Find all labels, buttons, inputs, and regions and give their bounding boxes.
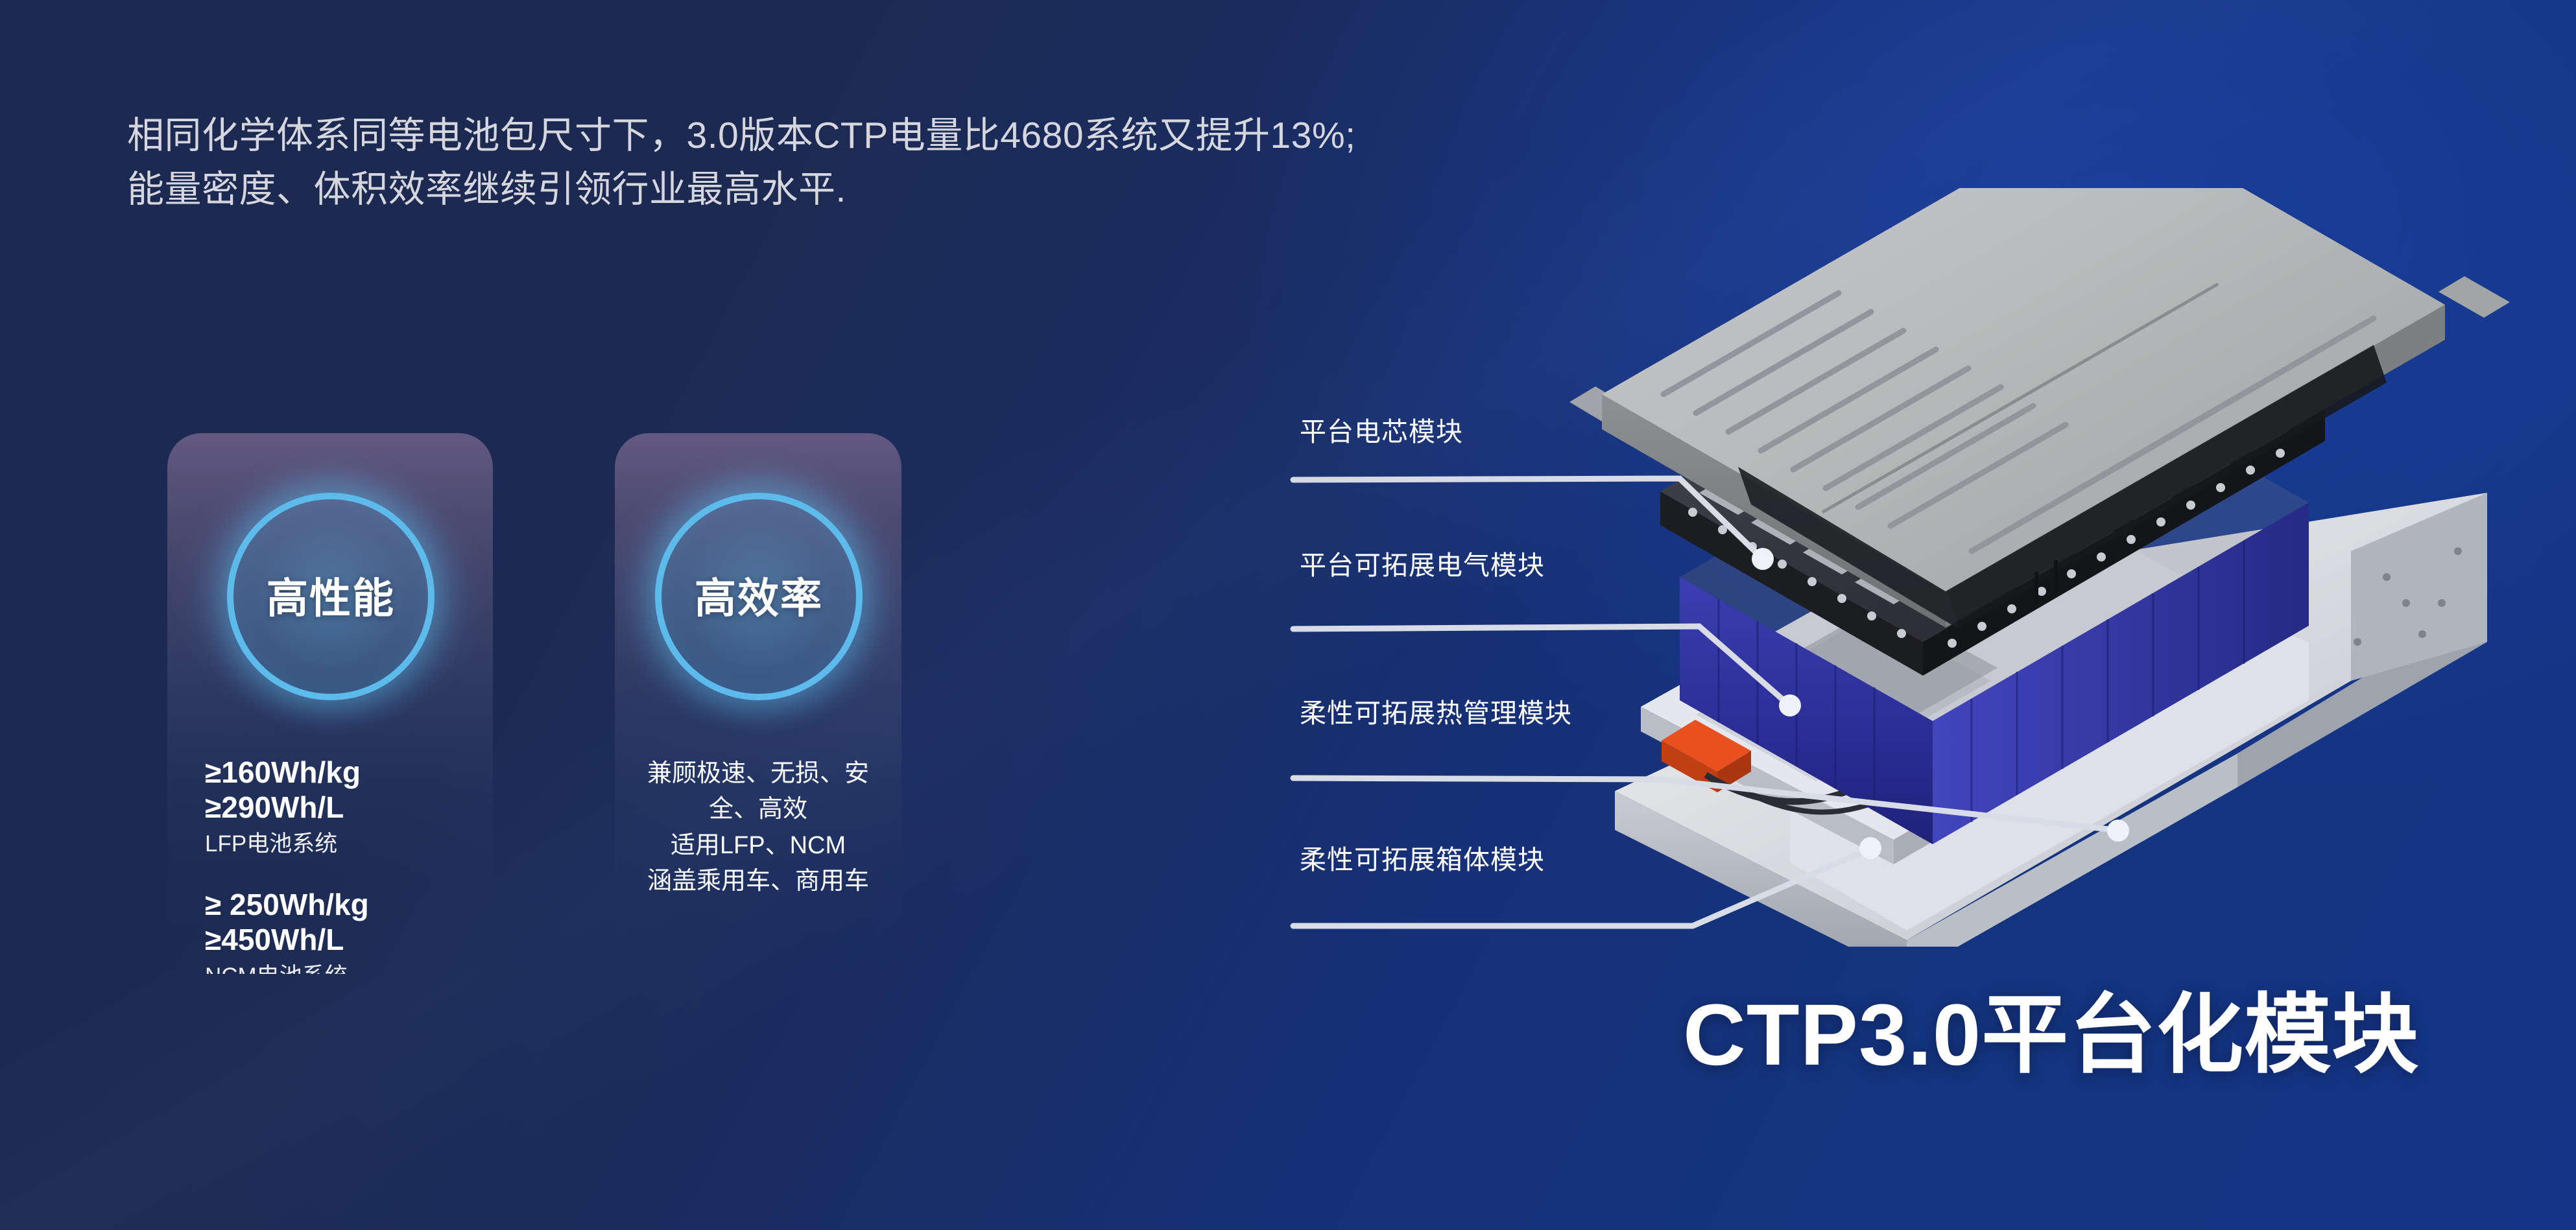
headline-text: 相同化学体系同等电池包尺寸下，3.0版本CTP电量比4680系统又提升13%; … xyxy=(127,109,1787,217)
efficiency-body-text: 兼顾极速、无损、安 全、高效 适用LFP、NCM 涵盖乘用车、商用车 xyxy=(615,756,901,900)
ring-badge-efficiency: 高效率 xyxy=(655,493,863,700)
battery-pack-exploded-view xyxy=(1544,188,2555,947)
ring-badge-performance: 高性能 xyxy=(227,493,435,700)
callout-label-electrical-module: 平台可拓展电气模块 xyxy=(1300,543,1545,582)
feature-card-performance: 高性能 ≥160Wh/kg ≥290Wh/L LFP电池系统 ≥ 250Wh/k… xyxy=(167,433,493,974)
spec-value-lfp: ≥160Wh/kg ≥290Wh/L xyxy=(205,755,361,825)
product-title: CTP3.0平台化模块 xyxy=(1683,964,2419,1090)
feature-card-efficiency: 高效率 兼顾极速、无损、安 全、高效 适用LFP、NCM 涵盖乘用车、商用车 xyxy=(615,433,901,974)
ring-label: 高效率 xyxy=(695,565,823,625)
spec-caption-lfp: LFP电池系统 xyxy=(205,829,361,859)
ring-label: 高性能 xyxy=(267,565,395,625)
spec-block-ncm: ≥ 250Wh/kg ≥450Wh/L NCM电池系统 xyxy=(205,887,369,974)
spec-value-ncm: ≥ 250Wh/kg ≥450Wh/L xyxy=(205,887,369,958)
slide-canvas: 相同化学体系同等电池包尺寸下，3.0版本CTP电量比4680系统又提升13%; … xyxy=(0,0,2576,1230)
callout-label-case-module: 柔性可拓展箱体模块 xyxy=(1300,838,1545,877)
spec-block-lfp: ≥160Wh/kg ≥290Wh/L LFP电池系统 xyxy=(205,755,361,858)
spec-caption-ncm: NCM电池系统 xyxy=(205,962,369,974)
callout-label-cell-module: 平台电芯模块 xyxy=(1300,410,1463,449)
callout-label-thermal-module: 柔性可拓展热管理模块 xyxy=(1300,691,1572,730)
